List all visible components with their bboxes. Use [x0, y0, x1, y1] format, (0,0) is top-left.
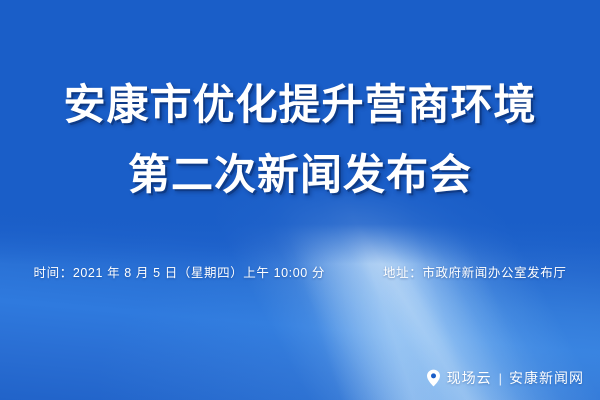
event-time-text: 时间：2021 年 8 月 5 日（星期四）上午 10:00 分: [34, 264, 326, 282]
banner-title-line-1: 安康市优化提升营商环境: [0, 74, 600, 136]
watermark: 现场云 | 安康新闻网: [426, 368, 584, 388]
banner-content: 安康市优化提升营商环境 第二次新闻发布会 时间：2021 年 8 月 5 日（星…: [0, 0, 600, 400]
watermark-site-label: 安康新闻网: [509, 368, 584, 388]
location-pin-icon: [426, 369, 441, 387]
banner-title-line-2: 第二次新闻发布会: [0, 144, 600, 206]
banner-title-block: 安康市优化提升营商环境 第二次新闻发布会: [0, 74, 600, 206]
news-conference-banner: 安康市优化提升营商环境 第二次新闻发布会 时间：2021 年 8 月 5 日（星…: [0, 0, 600, 400]
watermark-brand-label: 现场云: [447, 368, 492, 388]
watermark-separator: |: [498, 371, 503, 386]
banner-info-row: 时间：2021 年 8 月 5 日（星期四）上午 10:00 分 地址：市政府新…: [0, 264, 600, 282]
event-address-text: 地址：市政府新闻办公室发布厅: [383, 264, 566, 282]
